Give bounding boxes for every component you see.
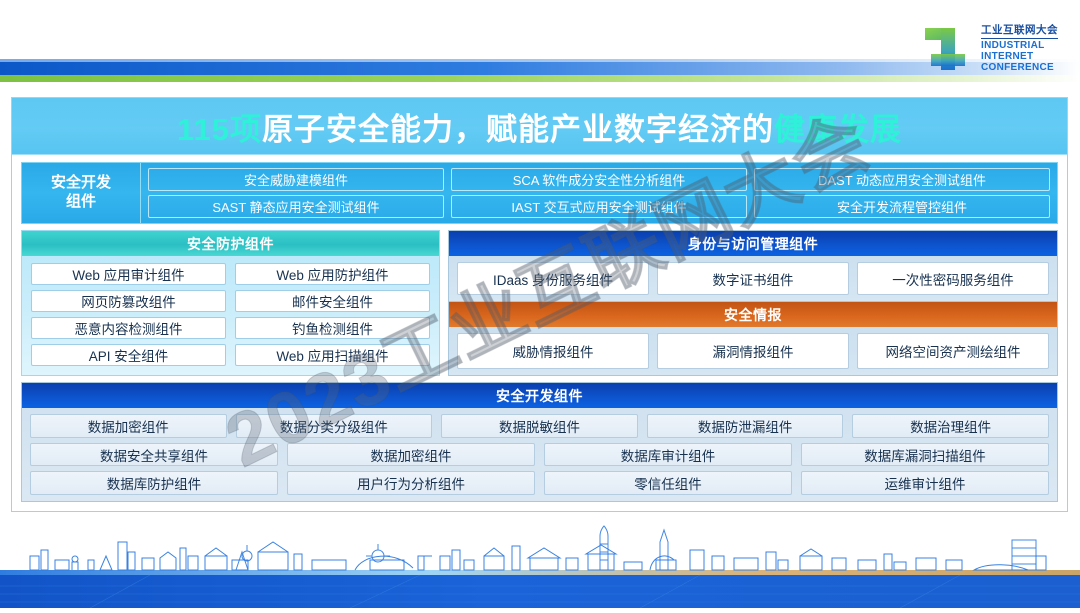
- security-protection-section: 安全防护组件 Web 应用审计组件 Web 应用防护组件 网页防篡改组件 邮件安…: [21, 230, 440, 376]
- conference-logo: 工业互联网大会 INDUSTRIAL INTERNET CONFERENCE: [921, 24, 1058, 74]
- right-column: 身份与访问管理组件 IDaas 身份服务组件 数字证书组件 一次性密码服务组件 …: [448, 230, 1058, 376]
- data-row-2: 数据安全共享组件 数据加密组件 数据库审计组件 数据库漏洞扫描组件: [30, 443, 1049, 467]
- secure-development-label: 安全开发 组件: [22, 163, 141, 223]
- component-chip[interactable]: SAST 静态应用安全测试组件: [148, 195, 444, 218]
- panel-body: 安全开发 组件 安全威胁建模组件 SCA 软件成分安全性分析组件 DAST 动态…: [12, 155, 1067, 511]
- component-chip[interactable]: SCA 软件成分安全性分析组件: [451, 168, 747, 191]
- component-chip[interactable]: IDaas 身份服务组件: [457, 262, 649, 295]
- component-chip[interactable]: 数据加密组件: [30, 414, 227, 438]
- component-chip[interactable]: 用户行为分析组件: [287, 471, 535, 495]
- page-title: 115项原子安全能力，赋能产业数字经济的健康发展: [177, 104, 902, 149]
- bottom-skyline-decoration: [0, 512, 1080, 608]
- component-chip[interactable]: 数据脱敏组件: [441, 414, 638, 438]
- dev-label-line1: 安全开发: [51, 174, 111, 193]
- title-middle: 原子安全能力，赋能产业数字经济的: [262, 112, 774, 147]
- component-chip[interactable]: 安全威胁建模组件: [148, 168, 444, 191]
- security-intelligence-header: 安全情报: [449, 302, 1057, 327]
- data-security-header: 安全开发组件: [22, 383, 1057, 408]
- component-chip[interactable]: 运维审计组件: [801, 471, 1049, 495]
- component-chip[interactable]: 零信任组件: [544, 471, 792, 495]
- logo-en-line1: INDUSTRIAL: [981, 40, 1058, 51]
- component-chip[interactable]: 网络空间资产测绘组件: [857, 333, 1049, 369]
- security-protection-header: 安全防护组件: [22, 231, 439, 256]
- middle-row: 安全防护组件 Web 应用审计组件 Web 应用防护组件 网页防篡改组件 邮件安…: [21, 230, 1058, 376]
- component-chip[interactable]: 数据加密组件: [287, 443, 535, 467]
- component-chip[interactable]: 威胁情报组件: [457, 333, 649, 369]
- data-row-1: 数据加密组件 数据分类分级组件 数据脱敏组件 数据防泄漏组件 数据治理组件: [30, 414, 1049, 438]
- panel-title-bar: 115项原子安全能力，赋能产业数字经济的健康发展: [12, 98, 1067, 155]
- title-highlight-lead: 115项: [177, 112, 262, 147]
- component-chip[interactable]: 网页防篡改组件: [31, 290, 226, 312]
- logo-en-line3: CONFERENCE: [981, 62, 1058, 73]
- secure-development-cells: 安全威胁建模组件 SCA 软件成分安全性分析组件 DAST 动态应用安全测试组件…: [141, 163, 1057, 223]
- main-panel: 115项原子安全能力，赋能产业数字经济的健康发展 安全开发 组件 安全威胁建模组…: [11, 97, 1068, 512]
- top-green-band: [0, 75, 1080, 82]
- title-highlight-tail: 健康发展: [774, 112, 902, 147]
- security-protection-grid: Web 应用审计组件 Web 应用防护组件 网页防篡改组件 邮件安全组件 恶意内…: [22, 256, 439, 369]
- component-chip[interactable]: 数据治理组件: [852, 414, 1049, 438]
- data-security-grid: 数据加密组件 数据分类分级组件 数据脱敏组件 数据防泄漏组件 数据治理组件 数据…: [22, 408, 1057, 501]
- component-chip[interactable]: Web 应用扫描组件: [235, 344, 430, 366]
- component-chip[interactable]: DAST 动态应用安全测试组件: [754, 168, 1050, 191]
- dev-label-line2: 组件: [51, 193, 111, 212]
- data-row-3: 数据库防护组件 用户行为分析组件 零信任组件 运维审计组件: [30, 471, 1049, 495]
- security-intelligence-section: 安全情报 威胁情报组件 漏洞情报组件 网络空间资产测绘组件: [448, 302, 1058, 376]
- logo-cn-name: 工业互联网大会: [981, 25, 1058, 39]
- identity-access-section: 身份与访问管理组件 IDaas 身份服务组件 数字证书组件 一次性密码服务组件: [448, 230, 1058, 302]
- logo-en-line2: INTERNET: [981, 51, 1058, 62]
- secure-development-row: 安全开发 组件 安全威胁建模组件 SCA 软件成分安全性分析组件 DAST 动态…: [21, 162, 1058, 224]
- data-security-section: 安全开发组件 数据加密组件 数据分类分级组件 数据脱敏组件 数据防泄漏组件 数据…: [21, 382, 1058, 502]
- component-chip[interactable]: 数字证书组件: [657, 262, 849, 295]
- component-chip[interactable]: 恶意内容检测组件: [31, 317, 226, 339]
- component-chip[interactable]: 数据分类分级组件: [236, 414, 433, 438]
- top-blue-band: [0, 62, 1080, 75]
- component-chip[interactable]: 数据库漏洞扫描组件: [801, 443, 1049, 467]
- component-chip[interactable]: 一次性密码服务组件: [857, 262, 1049, 295]
- component-chip[interactable]: 数据防泄漏组件: [647, 414, 844, 438]
- component-chip[interactable]: 数据安全共享组件: [30, 443, 278, 467]
- component-chip[interactable]: 安全开发流程管控组件: [754, 195, 1050, 218]
- component-chip[interactable]: Web 应用防护组件: [235, 263, 430, 285]
- component-chip[interactable]: API 安全组件: [31, 344, 226, 366]
- security-intelligence-cells: 威胁情报组件 漏洞情报组件 网络空间资产测绘组件: [449, 327, 1057, 375]
- identity-access-cells: IDaas 身份服务组件 数字证书组件 一次性密码服务组件: [449, 256, 1057, 301]
- component-chip[interactable]: 数据库审计组件: [544, 443, 792, 467]
- logo-text: 工业互联网大会 INDUSTRIAL INTERNET CONFERENCE: [981, 25, 1058, 73]
- component-chip[interactable]: Web 应用审计组件: [31, 263, 226, 285]
- component-chip[interactable]: 邮件安全组件: [235, 290, 430, 312]
- component-chip[interactable]: 钓鱼检测组件: [235, 317, 430, 339]
- component-chip[interactable]: IAST 交互式应用安全测试组件: [451, 195, 747, 218]
- logo-mark-icon: [921, 24, 973, 74]
- identity-access-header: 身份与访问管理组件: [449, 231, 1057, 256]
- component-chip[interactable]: 漏洞情报组件: [657, 333, 849, 369]
- component-chip[interactable]: 数据库防护组件: [30, 471, 278, 495]
